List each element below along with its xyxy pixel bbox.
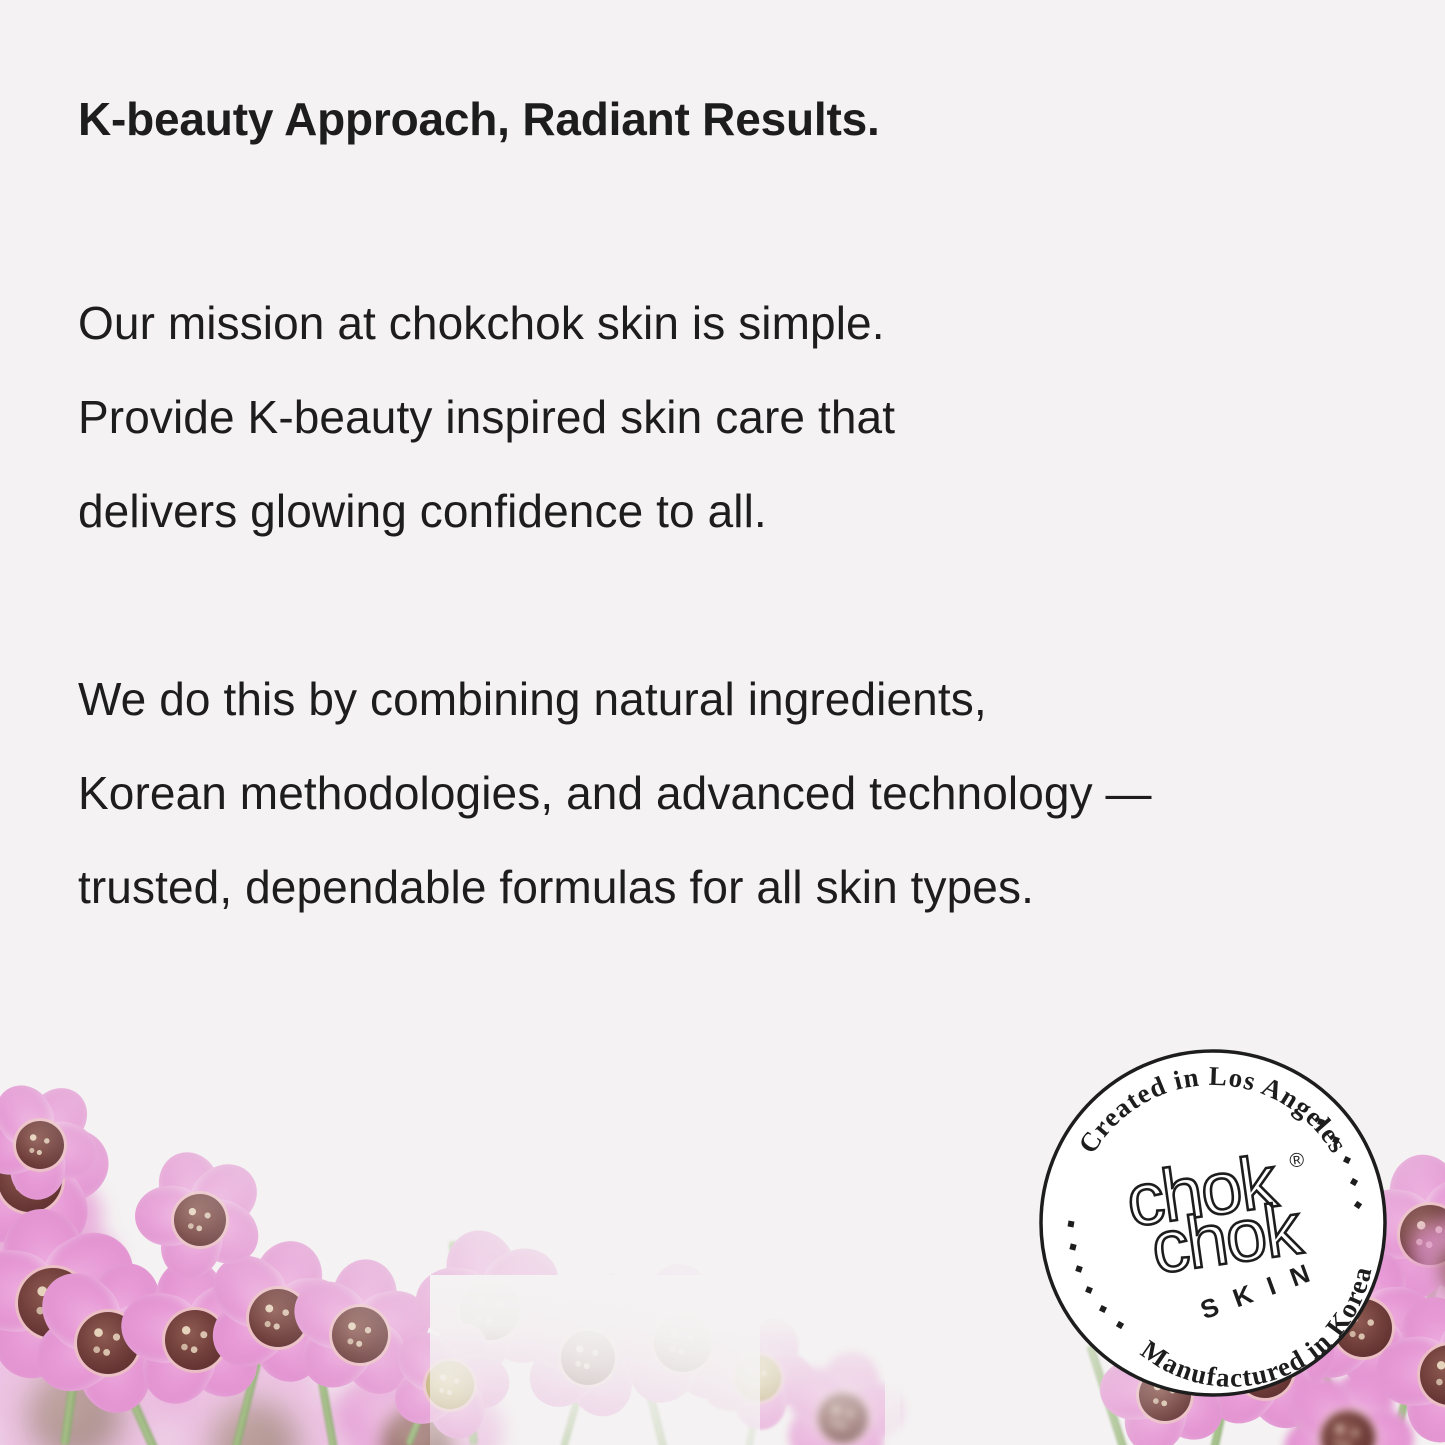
flower-blur [330,1355,505,1445]
stem [60,1251,96,1445]
paragraph-2-line-3: trusted, dependable formulas for all ski… [78,840,1378,934]
flower [120,1265,270,1415]
stem [405,1300,470,1445]
page-title: K-beauty Approach, Radiant Results. [78,92,880,146]
floral-fade-mid [430,1275,900,1445]
flower-blur [150,1340,360,1445]
paragraph-1-line-2: Provide K-beauty inspired skin care that [78,370,1378,464]
flower [415,1235,565,1385]
stem [449,1241,478,1445]
mission-copy: Our mission at chokchok skin is simple. … [78,276,1378,934]
flower [30,1265,185,1420]
promo-card: K-beauty Approach, Radiant Results. Our … [0,0,1445,1445]
floral-fade-left [0,1045,760,1445]
stem [230,1294,278,1445]
flower [135,1155,265,1285]
flower [610,1270,755,1415]
stem [560,1274,616,1445]
paragraph-2-line-1: We do this by combining natural ingredie… [78,652,1378,746]
flower [0,1100,110,1260]
flower-bud [390,1325,510,1445]
flower-blur [0,1180,120,1330]
flower-bud [700,1320,815,1435]
flower [205,1245,350,1390]
flower [290,1265,430,1405]
flower [0,1215,140,1390]
stem [298,1267,338,1445]
stem [745,1331,773,1445]
paragraph-2: We do this by combining natural ingredie… [78,652,1378,934]
brand-seal: Created in Los Angeles Manufactured in K… [1035,1045,1391,1401]
flower [0,1085,100,1205]
stem [89,1311,158,1445]
paragraph-2-line-2: Korean methodologies, and advanced techn… [78,746,1378,840]
flower [520,1290,655,1425]
paragraph-1: Our mission at chokchok skin is simple. … [78,276,1378,558]
flower-blur [1405,1210,1445,1330]
paragraph-1-line-1: Our mission at chokchok skin is simple. [78,276,1378,370]
stem [626,1313,668,1445]
flower-blur [0,1300,190,1445]
paragraph-1-line-3: delivers glowing confidence to all. [78,464,1378,558]
flower-blur [780,1355,905,1445]
stem [1390,1260,1444,1445]
